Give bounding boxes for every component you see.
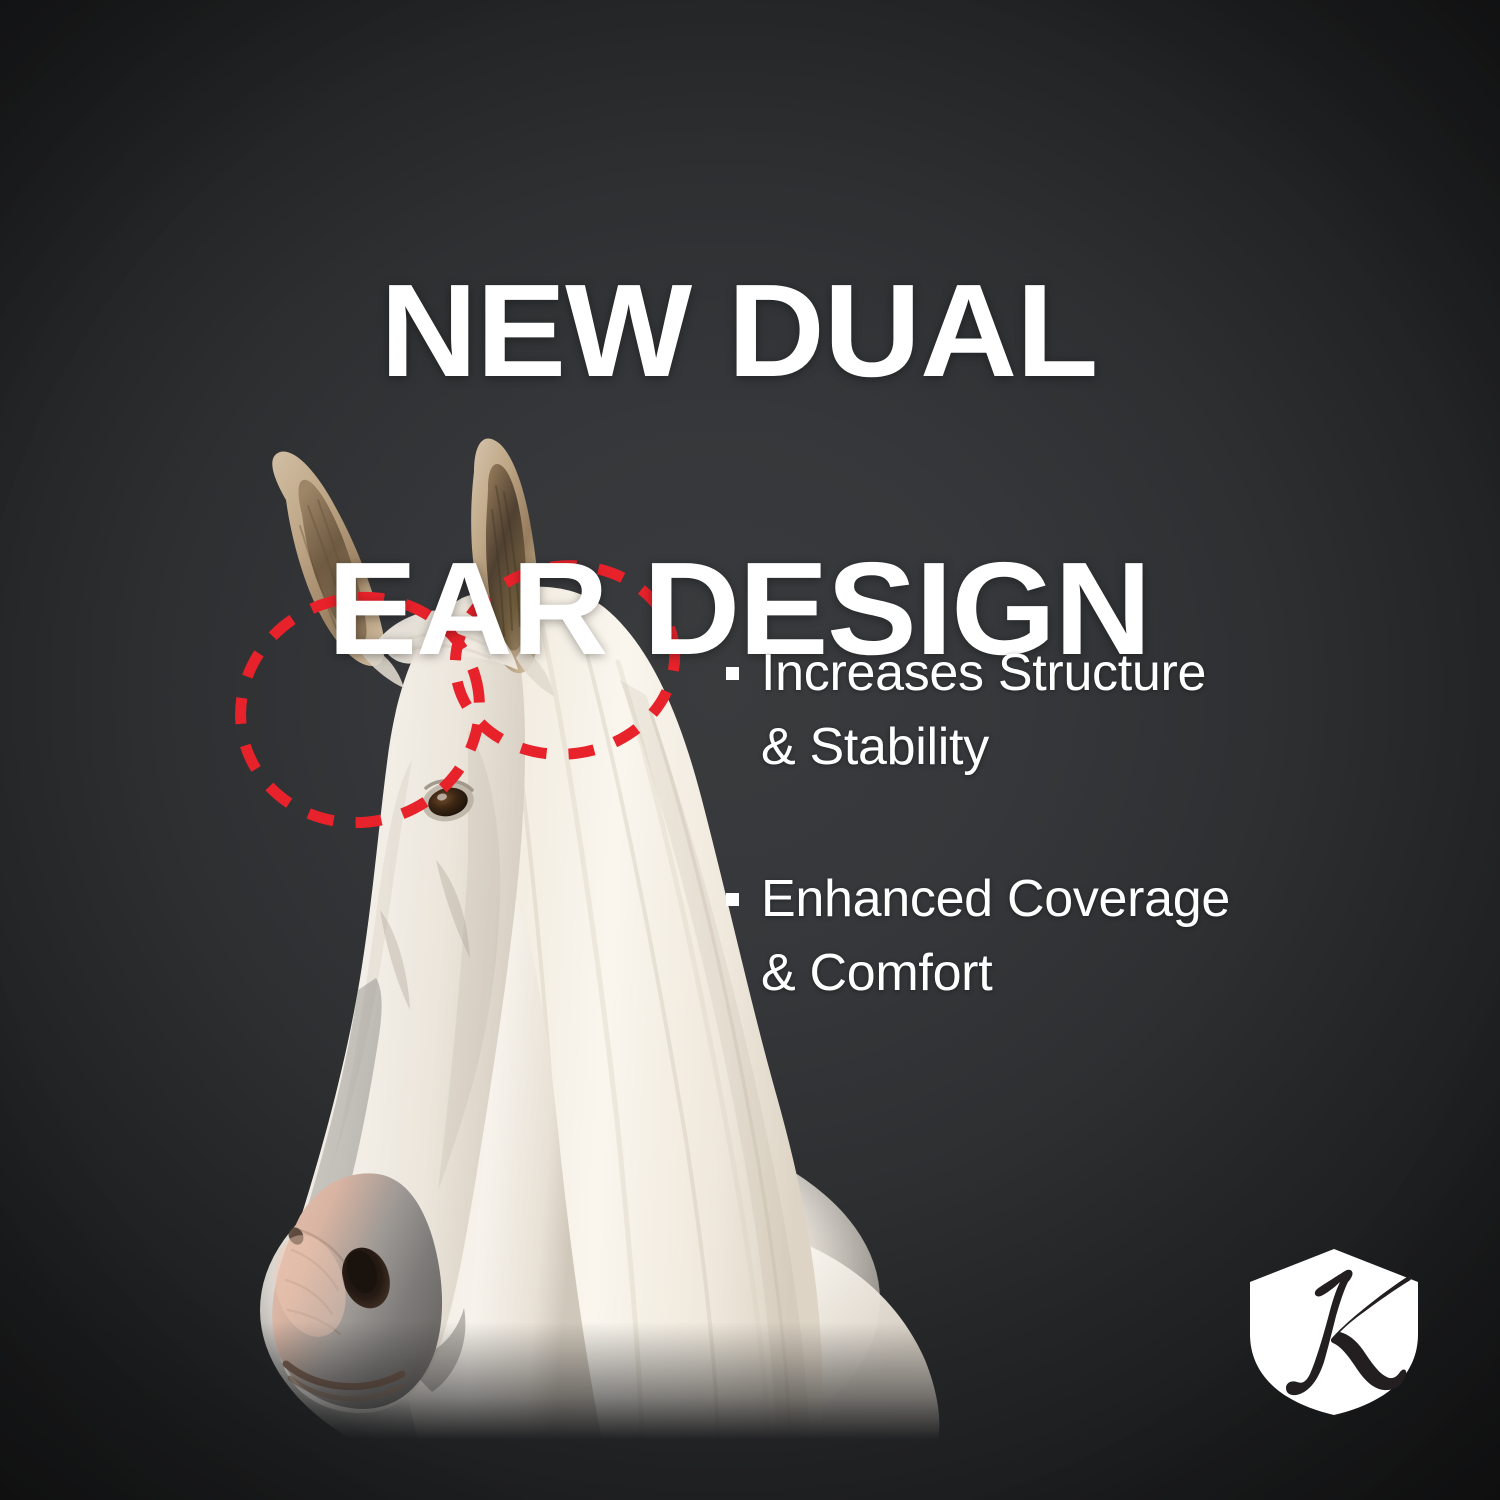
list-item: Enhanced Coverage & Comfort (726, 862, 1426, 1010)
headline-line-1: NEW DUAL (0, 261, 1493, 400)
brand-logo (1244, 1246, 1424, 1418)
list-item: Increases Structure & Stability (726, 636, 1426, 784)
feature-text: Increases Structure & Stability (761, 636, 1206, 784)
square-bullet-icon (726, 667, 739, 680)
promo-banner: NEW DUAL EAR DESIGN Increases Structure … (0, 0, 1500, 1500)
shield-icon (1244, 1246, 1424, 1418)
feature-text: Enhanced Coverage & Comfort (761, 862, 1230, 1010)
feature-list: Increases Structure & Stability Enhanced… (726, 636, 1426, 1010)
square-bullet-icon (726, 893, 739, 906)
